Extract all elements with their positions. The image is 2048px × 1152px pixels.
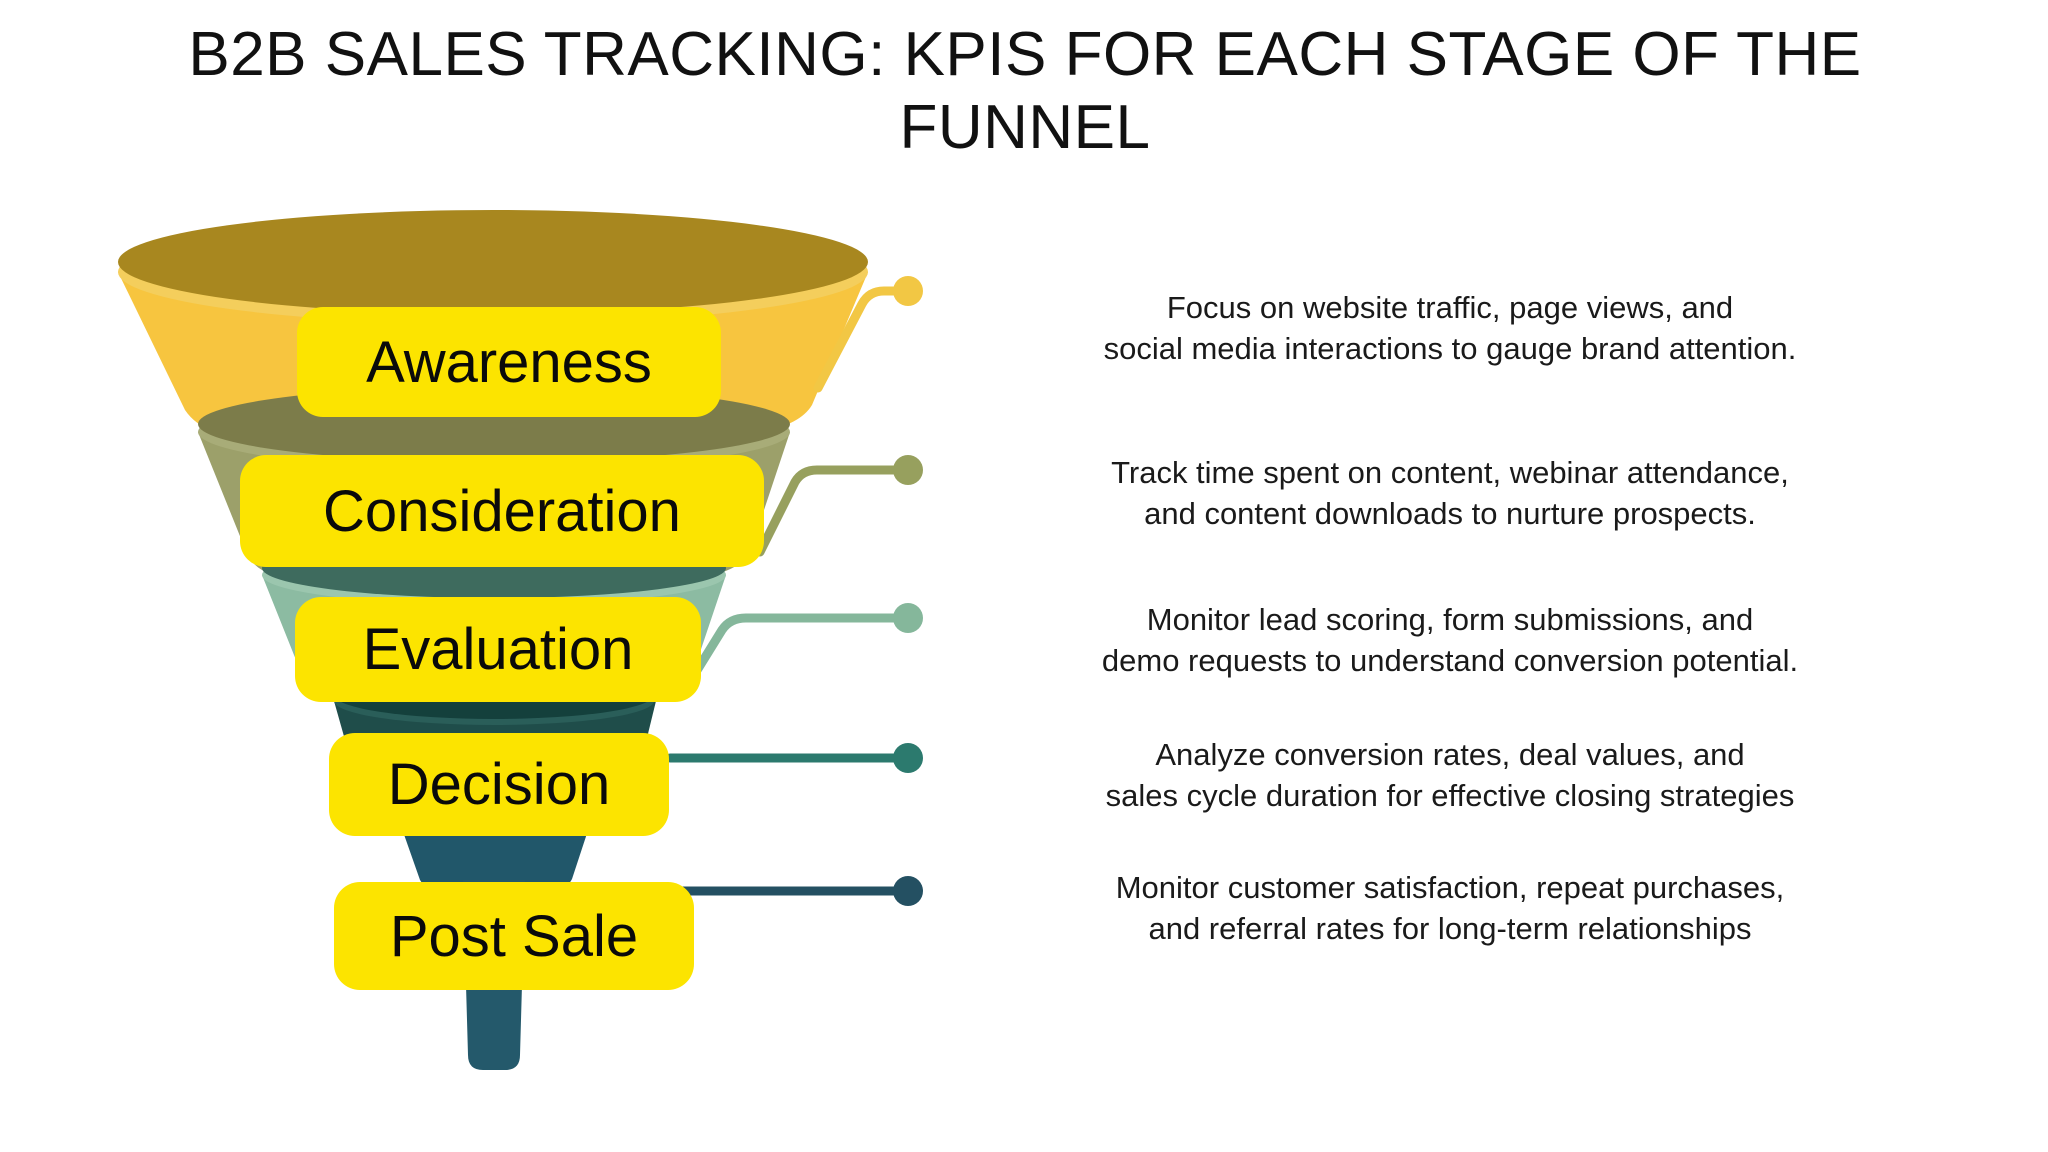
funnel-stage-label-awareness[interactable]: Awareness — [297, 307, 721, 417]
description-line: Analyze conversion rates, deal values, a… — [940, 734, 1960, 775]
funnel-stage-label-consideration[interactable]: Consideration — [240, 455, 764, 567]
description-line: Track time spent on content, webinar att… — [940, 452, 1960, 493]
description-line: social media interactions to gauge brand… — [940, 328, 1960, 369]
connector-dot-3 — [893, 603, 923, 633]
description-line: and content downloads to nurture prospec… — [940, 493, 1960, 534]
description-line: sales cycle duration for effective closi… — [940, 775, 1960, 816]
slide-canvas: B2B Sales Tracking: KPIs for Each Stage … — [0, 0, 2048, 1152]
connector-dot-5 — [893, 876, 923, 906]
funnel-stage-label-evaluation[interactable]: Evaluation — [295, 597, 701, 702]
connector-dot-1 — [893, 276, 923, 306]
stage-description-decision: Analyze conversion rates, deal values, a… — [940, 734, 1960, 816]
description-line: demo requests to understand conversion p… — [940, 640, 1960, 681]
connector-dot-2 — [893, 455, 923, 485]
stage-description-post-sale: Monitor customer satisfaction, repeat pu… — [940, 867, 1960, 949]
connector-line-5 — [660, 876, 923, 906]
description-line: and referral rates for long-term relatio… — [940, 908, 1960, 949]
connector-dot-4 — [893, 743, 923, 773]
funnel-graphic — [0, 0, 2048, 1152]
description-line: Monitor lead scoring, form submissions, … — [940, 599, 1960, 640]
stage-description-evaluation: Monitor lead scoring, form submissions, … — [940, 599, 1960, 681]
stage-description-consideration: Track time spent on content, webinar att… — [940, 452, 1960, 534]
description-line: Monitor customer satisfaction, repeat pu… — [940, 867, 1960, 908]
connector-line-4 — [670, 743, 923, 773]
funnel-stage-label-decision[interactable]: Decision — [329, 733, 669, 836]
connector-line-3 — [696, 603, 923, 672]
funnel-stage-label-post-sale[interactable]: Post Sale — [334, 882, 694, 990]
connector-line-2 — [760, 455, 923, 552]
description-line: Focus on website traffic, page views, an… — [940, 287, 1960, 328]
stage-description-awareness: Focus on website traffic, page views, an… — [940, 287, 1960, 369]
